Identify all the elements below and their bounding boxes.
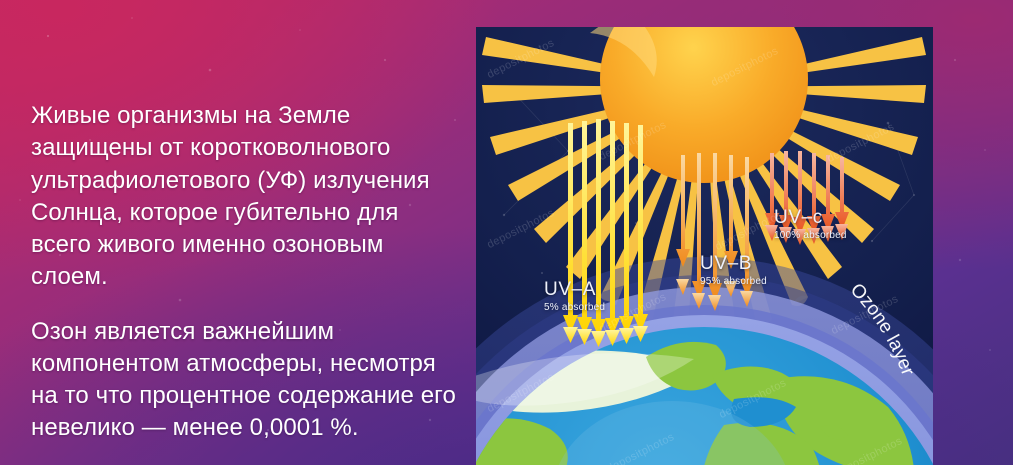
slide-text-body: Живые организмы на Земле защищены от кор…: [31, 100, 461, 445]
paragraph-ozone-concentration: Озон является важнейшим компонентом атмо…: [31, 316, 461, 445]
ozone-diagram-svg: Ozone layer: [476, 27, 933, 465]
presentation-slide: Живые организмы на Земле защищены от кор…: [0, 0, 1013, 465]
ozone-layer-illustration: Ozone layer UV–A 5% absorbed UV–B 95% ab…: [476, 27, 933, 465]
paragraph-ozone-protection: Живые организмы на Земле защищены от кор…: [31, 100, 461, 294]
